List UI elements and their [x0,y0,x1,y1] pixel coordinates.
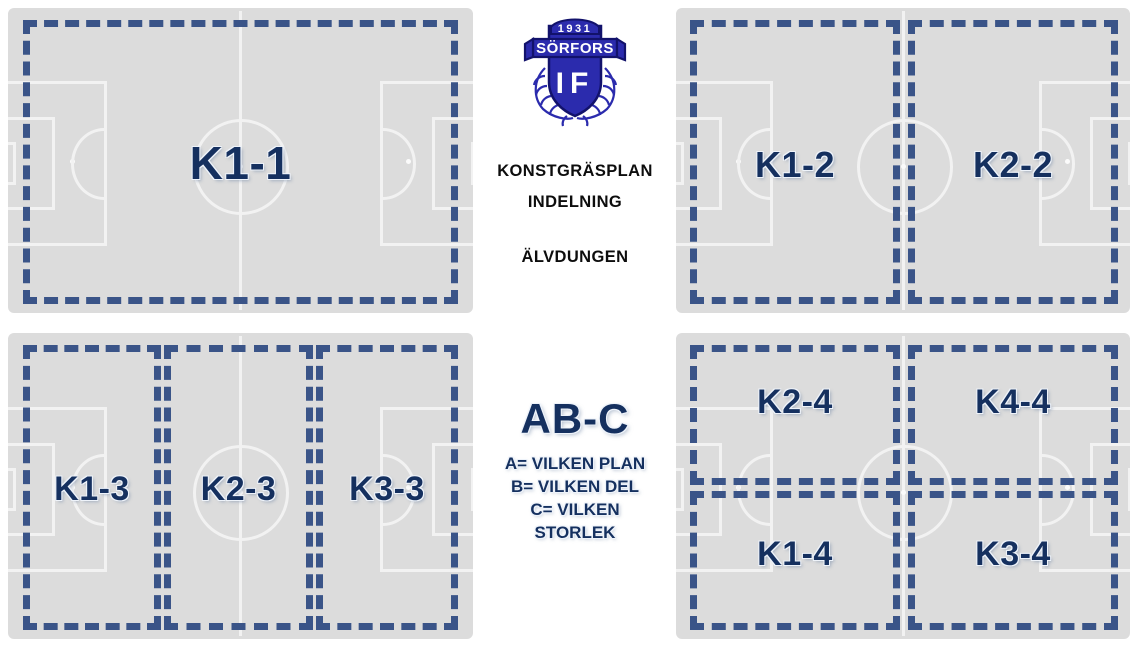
crest-initials: IF [556,67,595,100]
goal-left [676,142,684,185]
legend-item-c-cont: STORLEK [474,521,676,544]
title-line-2: INDELNING [474,193,676,212]
section-K1-3[interactable] [23,345,161,630]
centre-spot [901,490,906,495]
pitch-panel-quarters[interactable]: K2-4 K4-4 K1-4 K3-4 [676,333,1130,639]
section-K2-2[interactable] [908,20,1118,304]
legend-item-b: B= VILKEN DEL [474,475,676,498]
center-info-column: 1931 SÖRFORS IF KONSTGRÄSPLAN INDELNING … [474,0,676,647]
section-K1-2[interactable] [690,20,900,304]
goal-right [471,142,473,185]
legend-code: AB-C [474,395,676,443]
pitch-panel-full[interactable]: K1-1 [8,8,473,313]
goal-right [471,468,473,511]
title-line-1: KONSTGRÄSPLAN [474,162,676,181]
goal-right [1128,142,1130,185]
section-K4-4[interactable] [908,345,1118,485]
sorfors-if-crest-icon: 1931 SÖRFORS IF [515,6,635,128]
crest-club-name: SÖRFORS [536,40,614,57]
pitch-division-board: K1-1 K1-2 K2-2 [0,0,1138,647]
crest-year: 1931 [558,23,592,35]
section-K2-3[interactable] [164,345,313,630]
section-K1-1[interactable] [23,20,458,304]
pitch-panel-halves[interactable]: K1-2 K2-2 [676,8,1130,313]
venue-name: ÄLVDUNGEN [474,248,676,267]
pitch-panel-thirds[interactable]: K1-3 K2-3 K3-3 [8,333,473,639]
section-K2-4[interactable] [690,345,900,485]
legend-item-a: A= VILKEN PLAN [474,452,676,475]
goal-left [8,468,16,511]
legend-list: A= VILKEN PLAN B= VILKEN DEL C= VILKEN S… [474,452,676,544]
goal-left [8,142,16,185]
section-K3-3[interactable] [316,345,458,630]
centre-spot [901,164,906,169]
legend-item-c: C= VILKEN [474,498,676,521]
section-K1-4[interactable] [690,491,900,630]
goal-right [1128,468,1130,511]
goal-left [676,468,684,511]
club-crest: 1931 SÖRFORS IF [515,6,635,128]
section-K3-4[interactable] [908,491,1118,630]
